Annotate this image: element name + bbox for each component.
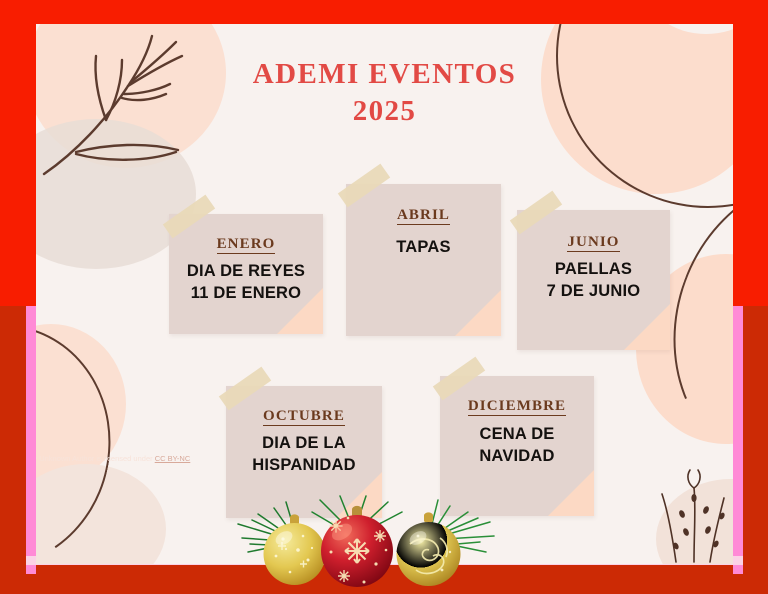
event-card-junio[interactable]: JUNIO PAELLAS 7 DE JUNIO	[517, 210, 670, 350]
event-card-month: OCTUBRE	[226, 408, 382, 425]
event-card-month-label: JUNIO	[567, 234, 619, 252]
attribution-text: by Unknown Author is licensed under	[36, 454, 153, 463]
event-card-month-label: OCTUBRE	[263, 408, 345, 426]
event-card-abril[interactable]: ABRIL TAPAS	[346, 184, 501, 336]
event-card-month: ENERO	[169, 236, 323, 253]
pink-accent-strip-right	[733, 306, 743, 574]
tape-strip-icon	[510, 191, 562, 235]
poster-canvas: ADEMI EVENTOS 2025 ENERO DIA DE REYES 11…	[36, 24, 733, 564]
tape-strip-icon	[338, 164, 390, 208]
event-card-line2: 7 DE JUNIO	[517, 281, 670, 303]
event-card-month: ABRIL	[346, 207, 501, 224]
event-card-line2: NAVIDAD	[440, 446, 594, 468]
event-card-line1: CENA DE	[440, 424, 594, 446]
event-card-line2: HISPANIDAD	[226, 455, 382, 477]
tape-strip-icon	[433, 357, 485, 401]
event-card-body: DIA DE LA HISPANIDAD	[226, 433, 382, 477]
event-card-month: JUNIO	[517, 234, 670, 251]
ornament-red-center	[321, 507, 393, 587]
sprig-line-art-icon	[636, 454, 733, 564]
event-card-line1: TAPAS	[346, 237, 501, 259]
page-fold-corner	[624, 304, 670, 350]
event-card-enero[interactable]: ENERO DIA DE REYES 11 DE ENERO	[169, 214, 323, 334]
event-card-month-label: ENERO	[217, 236, 276, 254]
poster: ADEMI EVENTOS 2025 ENERO DIA DE REYES 11…	[0, 0, 768, 594]
event-card-body: PAELLAS 7 DE JUNIO	[517, 259, 670, 303]
photo-attribution: is Photo by Unknown Author is licensed u…	[36, 454, 230, 463]
event-card-line1: DIA DE REYES	[169, 261, 323, 283]
event-card-body: TAPAS	[346, 237, 501, 259]
event-card-line1: PAELLAS	[517, 259, 670, 281]
page-fold-corner	[548, 470, 594, 516]
page-title-year: 2025	[36, 93, 733, 130]
event-card-month-label: DICIEMBRE	[468, 398, 566, 416]
tape-strip-icon	[219, 367, 271, 411]
event-card-body: DIA DE REYES 11 DE ENERO	[169, 261, 323, 305]
poster-title-block: ADEMI EVENTOS 2025	[36, 56, 733, 130]
attribution-license-link[interactable]: CC BY-NC	[155, 454, 191, 463]
event-card-month: DICIEMBRE	[440, 398, 594, 415]
page-title: ADEMI EVENTOS	[36, 56, 733, 93]
page-fold-corner	[455, 290, 501, 336]
event-card-line2: 11 DE ENERO	[169, 283, 323, 305]
event-card-line1: DIA DE LA	[226, 433, 382, 455]
event-card-body: CENA DE NAVIDAD	[440, 424, 594, 468]
pink-accent-strip-left	[26, 306, 36, 574]
christmas-ornaments-icon	[228, 494, 508, 594]
event-card-month-label: ABRIL	[397, 207, 450, 225]
ornament-gold-left	[264, 515, 326, 585]
